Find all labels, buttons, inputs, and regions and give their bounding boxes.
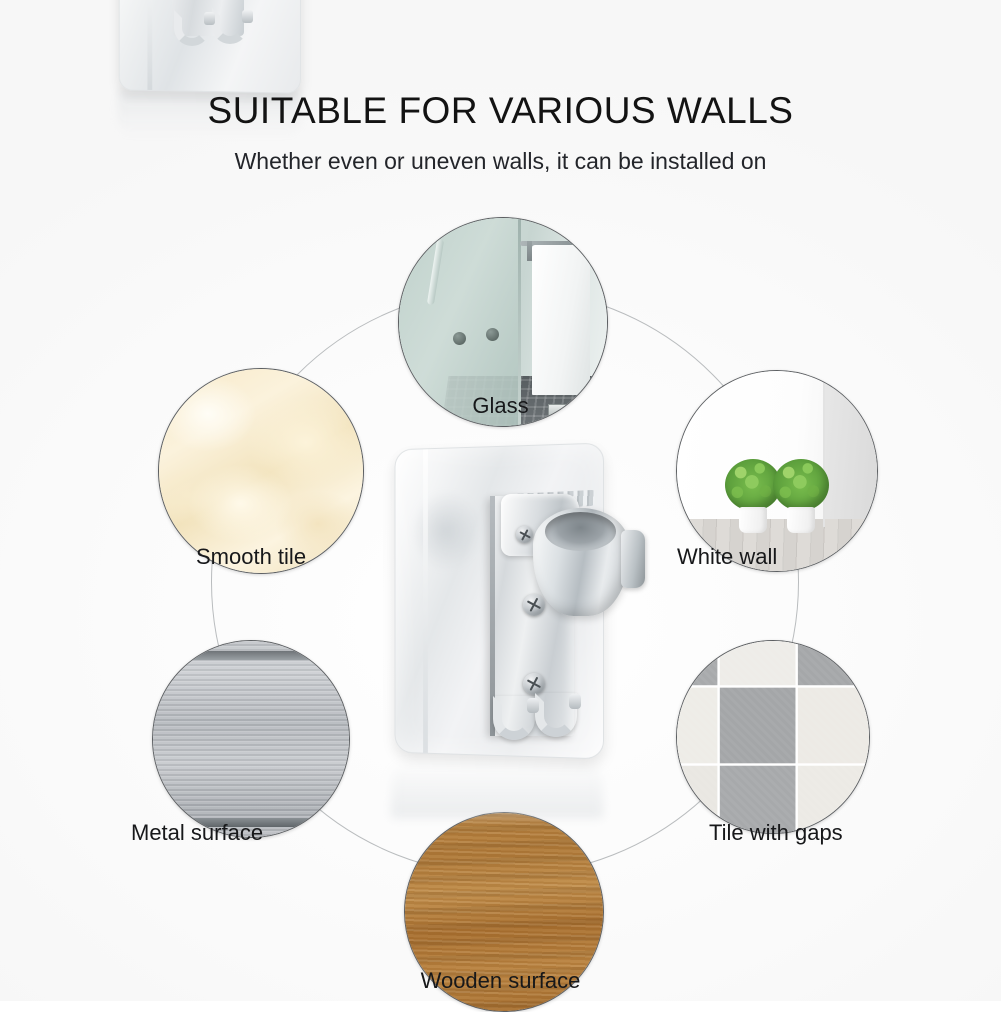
- cradle-bore: [545, 512, 616, 551]
- inset-hook-tip: [204, 12, 215, 25]
- hook-tip: [527, 698, 539, 713]
- inset-hook-tip: [242, 10, 253, 23]
- surface-label-smooth-tile: Smooth tile: [196, 544, 306, 570]
- page-title: SUITABLE FOR VARIOUS WALLS: [0, 92, 1001, 131]
- surface-label-glass: Glass: [0, 393, 1001, 419]
- product-image: [383, 446, 626, 762]
- checkered-tile-icon: [677, 641, 869, 833]
- surface-circle-metal-surface[interactable]: [152, 640, 350, 838]
- surface-label-white-wall: White wall: [677, 544, 777, 570]
- screw-icon: [523, 594, 545, 616]
- surface-label-metal-surface: Metal surface: [131, 820, 263, 846]
- shower-head-cradle: [533, 508, 629, 616]
- plate-highlight: [423, 449, 428, 753]
- product-reflection: [391, 760, 603, 818]
- surface-circle-tile-with-gaps[interactable]: [676, 640, 870, 834]
- surface-label-wooden-surface: Wooden surface: [0, 968, 1001, 994]
- screw-icon: [523, 673, 545, 695]
- brushed-metal-icon: [153, 641, 349, 837]
- product-inset-image: [116, 0, 300, 92]
- cradle-tab: [621, 530, 645, 588]
- infographic-canvas: SUITABLE FOR VARIOUS WALLS Whether even …: [0, 0, 1001, 1001]
- inset-plate-highlight: [148, 0, 153, 90]
- screw-icon: [516, 526, 533, 543]
- page-subtitle: Whether even or uneven walls, it can be …: [0, 148, 1001, 176]
- hook-tip: [569, 694, 581, 709]
- surface-label-tile-with-gaps: Tile with gaps: [709, 820, 843, 846]
